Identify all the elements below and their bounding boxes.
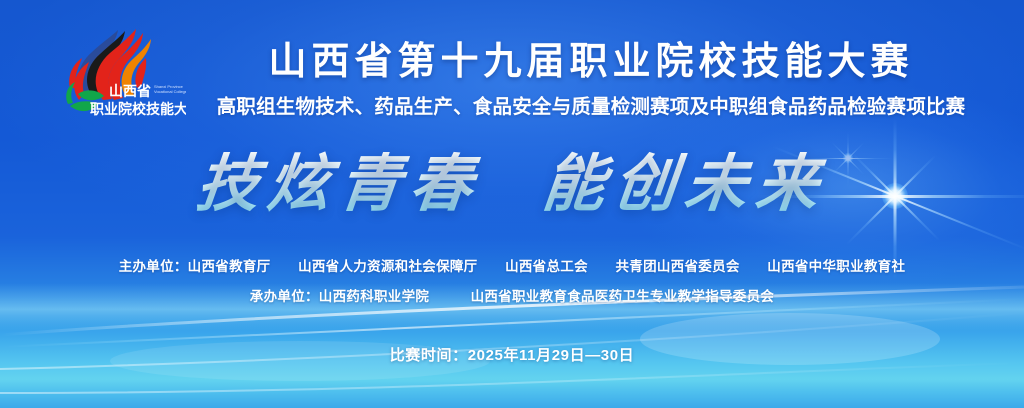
starburst-ray — [848, 142, 865, 159]
starburst-ray — [848, 158, 865, 175]
starburst-ray — [803, 158, 848, 159]
starburst-ray — [848, 158, 893, 159]
slogan-phrase-1: 技炫青春 — [193, 146, 485, 222]
starburst-ray — [895, 195, 1024, 198]
competition-banner: 山西省 职业院校技能大赛 Shanxi Province Vocational … — [0, 0, 1024, 408]
sub-title: 高职组生物技术、药品生产、食品安全与质量检测赛项及中职组食品药品检验赛项比赛 — [186, 94, 996, 120]
competition-date: 比赛时间：2025年11月29日—30日 — [0, 344, 1024, 368]
svg-text:Vocational College Skills: Vocational College Skills — [154, 89, 186, 94]
starburst-ray — [894, 155, 936, 197]
svg-text:山西省: 山西省 — [109, 83, 151, 99]
starburst-ray — [772, 146, 895, 197]
main-title: 山西省第十九届职业院校技能大赛 — [186, 36, 996, 88]
starburst-core — [843, 153, 853, 163]
sparkle-decoration — [803, 123, 893, 193]
starburst-ray — [757, 195, 895, 198]
starburst-ray — [895, 195, 1024, 250]
starburst-ray — [894, 118, 897, 196]
starburst-ray — [847, 195, 896, 244]
slogan-phrase-2: 能创未来 — [539, 146, 831, 222]
starburst-ray — [894, 195, 940, 241]
organizer-line-co-host: 承办单位：山西药科职业学院 山西省职业教育食品医药卫生专业教学指导委员会 — [0, 282, 1024, 312]
starburst-ray — [852, 153, 896, 197]
starburst-ray — [832, 142, 849, 159]
starburst-ray — [832, 158, 849, 175]
starburst-ray — [848, 158, 849, 185]
starburst-core — [882, 183, 908, 209]
starburst-ray — [848, 131, 849, 158]
competition-logo: 山西省 职业院校技能大赛 Shanxi Province Vocational … — [34, 22, 186, 122]
title-block: 山西省第十九届职业院校技能大赛 高职组生物技术、药品生产、食品安全与质量检测赛项… — [186, 36, 996, 120]
slogan-block: 技炫青春 能创未来 — [0, 146, 1024, 222]
svg-text:职业院校技能大赛: 职业院校技能大赛 — [90, 101, 186, 117]
organizer-line-host: 主办单位：山西省教育厅 山西省人力资源和社会保障厅 山西省总工会 共青团山西省委… — [0, 252, 1024, 282]
organizers-block: 主办单位：山西省教育厅 山西省人力资源和社会保障厅 山西省总工会 共青团山西省委… — [0, 252, 1024, 312]
